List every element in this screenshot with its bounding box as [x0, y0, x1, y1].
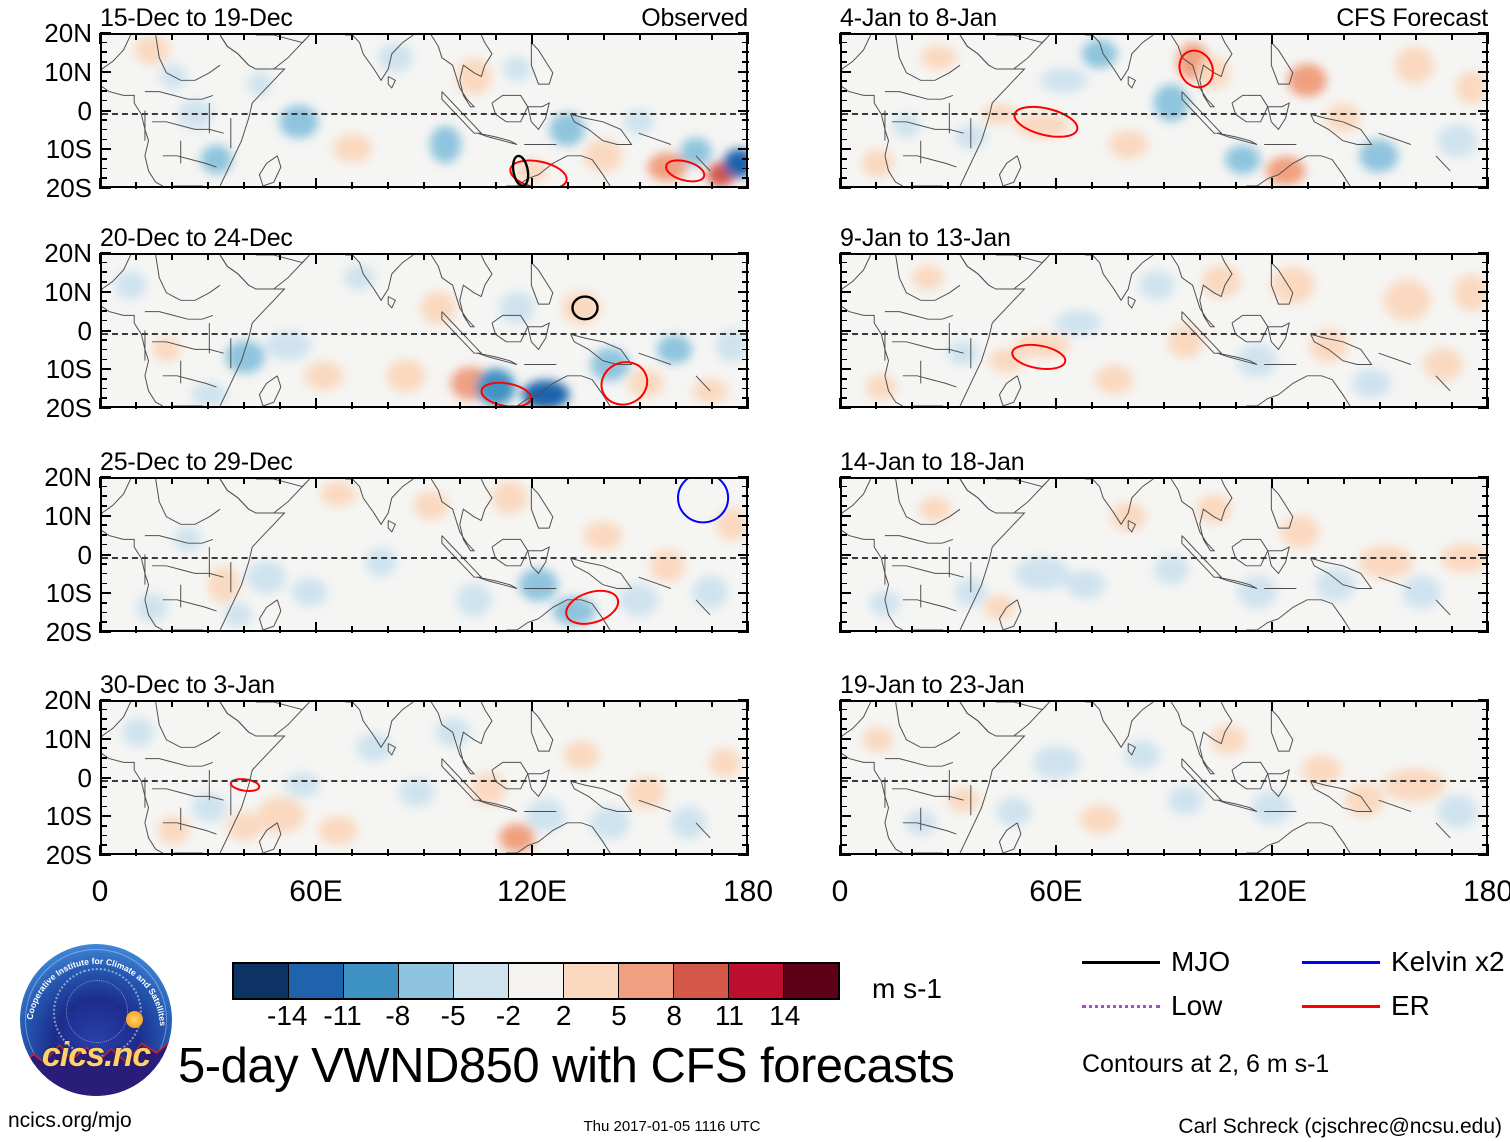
- y-tick: [840, 709, 847, 711]
- y-tick: [1478, 291, 1489, 293]
- y-axis-label: 20S: [46, 842, 92, 868]
- x-tick: [1091, 33, 1093, 40]
- x-tick: [1127, 849, 1129, 856]
- y-axis-labels: 20N10N010S20S: [12, 253, 92, 408]
- y-tick: [1478, 368, 1489, 370]
- x-tick: [207, 626, 209, 633]
- colorbar-swatch: [234, 964, 289, 998]
- colorbar-swatch: [289, 964, 344, 998]
- x-tick: [1415, 182, 1417, 189]
- x-tick: [1451, 253, 1453, 260]
- y-tick: [840, 747, 847, 749]
- colorbar-tick: -8: [385, 1002, 410, 1030]
- y-tick: [840, 524, 847, 526]
- x-tick: [459, 33, 461, 40]
- y-tick: [840, 476, 851, 478]
- y-tick: [742, 300, 749, 302]
- y-tick: [100, 271, 107, 273]
- x-tick: [495, 849, 497, 856]
- x-tick: [1163, 182, 1165, 189]
- y-tick: [840, 148, 851, 150]
- x-tick: [171, 182, 173, 189]
- y-tick: [100, 563, 107, 565]
- y-tick: [840, 796, 847, 798]
- colorbar-swatch: [619, 964, 674, 998]
- y-tick: [1482, 718, 1489, 720]
- x-tick: [1271, 622, 1273, 633]
- map-panel-fcs-3: 14-Jan to 18-Jan: [840, 477, 1488, 632]
- y-tick: [1482, 825, 1489, 827]
- colorbar-tick: -14: [267, 1002, 307, 1030]
- y-tick: [840, 281, 847, 283]
- x-tick: [387, 700, 389, 707]
- x-tick: [1379, 253, 1381, 260]
- y-tick: [840, 407, 851, 409]
- y-tick: [738, 187, 749, 189]
- x-tick: [135, 849, 137, 856]
- x-tick: [1019, 700, 1021, 707]
- y-tick: [840, 51, 847, 53]
- map-panel-grid: 15-Dec to 19-DecObserved20N10N010S20S4-J…: [0, 0, 1510, 930]
- x-tick: [1307, 700, 1309, 707]
- x-axis-label: 180: [1463, 877, 1510, 907]
- colorbar-tick: -5: [441, 1002, 466, 1030]
- y-tick: [840, 90, 847, 92]
- y-tick: [100, 592, 111, 594]
- y-tick: [742, 718, 749, 720]
- x-tick: [567, 253, 569, 260]
- y-tick: [1478, 554, 1489, 556]
- x-tick: [1199, 182, 1201, 189]
- y-tick: [1482, 534, 1489, 536]
- y-tick: [100, 330, 111, 332]
- x-tick: [875, 700, 877, 707]
- x-tick: [1415, 626, 1417, 633]
- equator-line: [102, 333, 746, 335]
- y-tick: [742, 177, 749, 179]
- x-tick: [983, 253, 985, 260]
- x-tick: [315, 33, 317, 44]
- site-url[interactable]: ncics.org/mjo: [8, 1110, 132, 1131]
- x-tick: [1379, 849, 1381, 856]
- y-tick: [1482, 119, 1489, 121]
- x-tick: [1091, 402, 1093, 409]
- map-plot-area: [840, 477, 1488, 632]
- y-tick: [100, 42, 107, 44]
- x-tick: [495, 33, 497, 40]
- x-tick: [1343, 33, 1345, 40]
- y-tick: [1482, 271, 1489, 273]
- y-tick: [100, 602, 107, 604]
- colorbar-tick: 11: [715, 1002, 744, 1030]
- y-tick: [742, 767, 749, 769]
- y-tick: [1482, 844, 1489, 846]
- y-tick: [1482, 359, 1489, 361]
- y-tick: [100, 148, 111, 150]
- coastlines: [842, 702, 1450, 853]
- y-tick: [100, 757, 107, 759]
- x-tick: [1091, 477, 1093, 484]
- x-tick: [423, 33, 425, 40]
- y-axis-labels: 20N10N010S20S: [12, 33, 92, 188]
- y-tick: [840, 786, 847, 788]
- x-tick: [911, 626, 913, 633]
- x-tick: [207, 849, 209, 856]
- y-tick: [742, 139, 749, 141]
- x-tick: [675, 182, 677, 189]
- x-tick: [531, 622, 533, 633]
- wave-legend: MJOKelvin x2LowER: [1082, 948, 1502, 1028]
- equator-line: [842, 333, 1486, 335]
- x-tick: [351, 700, 353, 707]
- x-tick: [459, 402, 461, 409]
- x-tick: [1055, 622, 1057, 633]
- y-tick: [100, 825, 107, 827]
- y-tick: [840, 368, 851, 370]
- y-tick: [1482, 310, 1489, 312]
- panel-title: 20-Dec to 24-Dec: [100, 226, 293, 251]
- y-tick: [840, 515, 851, 517]
- y-axis-label: 20N: [44, 464, 92, 490]
- y-tick: [742, 786, 749, 788]
- x-tick: [983, 700, 985, 707]
- cics-nc-logo: Cooperative Institute for Climate and Sa…: [20, 944, 172, 1096]
- y-tick: [100, 631, 111, 633]
- legend-label: Kelvin x2: [1391, 948, 1505, 976]
- x-tick: [1271, 33, 1273, 44]
- x-tick: [1055, 398, 1057, 409]
- y-tick: [100, 583, 107, 585]
- x-tick: [207, 477, 209, 484]
- x-tick: [531, 398, 533, 409]
- map-plot-area: [100, 33, 748, 188]
- y-tick: [840, 815, 851, 817]
- x-tick: [1199, 402, 1201, 409]
- y-tick: [100, 718, 107, 720]
- y-tick: [738, 71, 749, 73]
- y-tick: [1482, 177, 1489, 179]
- y-tick: [100, 129, 107, 131]
- y-tick: [1478, 476, 1489, 478]
- x-tick: [459, 253, 461, 260]
- x-tick: [603, 626, 605, 633]
- panel-column-header: CFS Forecast: [1336, 6, 1488, 31]
- x-tick: [243, 402, 245, 409]
- x-tick: [1019, 402, 1021, 409]
- panel-title: 4-Jan to 8-Jan: [840, 6, 997, 31]
- x-tick: [315, 622, 317, 633]
- y-axis-label: 0: [78, 318, 92, 344]
- y-tick: [742, 397, 749, 399]
- x-tick: [875, 402, 877, 409]
- y-tick: [742, 534, 749, 536]
- map-panel-obs-2: 20-Dec to 24-Dec: [100, 253, 748, 408]
- y-tick: [840, 71, 851, 73]
- y-tick: [100, 854, 111, 856]
- equator-line: [842, 780, 1486, 782]
- x-tick: [351, 253, 353, 260]
- x-tick: [875, 626, 877, 633]
- x-tick: [171, 253, 173, 260]
- x-tick: [423, 700, 425, 707]
- x-tick: [675, 402, 677, 409]
- colorbar-tick: 5: [611, 1002, 627, 1030]
- y-tick: [100, 709, 107, 711]
- y-tick: [742, 728, 749, 730]
- x-tick: [639, 700, 641, 707]
- y-tick: [100, 806, 107, 808]
- x-tick: [243, 700, 245, 707]
- x-tick: [639, 253, 641, 260]
- x-tick: [1019, 253, 1021, 260]
- x-tick: [315, 178, 317, 189]
- x-tick: [1343, 402, 1345, 409]
- x-tick: [243, 849, 245, 856]
- x-tick: [135, 477, 137, 484]
- y-tick: [1478, 592, 1489, 594]
- y-axis-label: 10S: [46, 580, 92, 606]
- x-tick: [711, 700, 713, 707]
- x-tick: [207, 700, 209, 707]
- y-axis-label: 20S: [46, 619, 92, 645]
- x-tick: [1379, 182, 1381, 189]
- x-tick: [1235, 700, 1237, 707]
- x-tick: [207, 182, 209, 189]
- x-tick: [983, 182, 985, 189]
- x-tick: [675, 477, 677, 484]
- x-tick: [1091, 626, 1093, 633]
- y-tick: [1478, 252, 1489, 254]
- y-tick: [100, 310, 107, 312]
- y-tick: [1478, 699, 1489, 701]
- x-tick: [279, 477, 281, 484]
- y-tick: [738, 252, 749, 254]
- x-axis-label: 0: [832, 877, 849, 907]
- y-tick: [1482, 388, 1489, 390]
- y-tick: [100, 90, 107, 92]
- y-tick: [1482, 767, 1489, 769]
- x-tick: [875, 33, 877, 40]
- y-tick: [738, 699, 749, 701]
- y-axis-label: 20S: [46, 175, 92, 201]
- y-axis-label: 20N: [44, 240, 92, 266]
- x-tick: [1163, 849, 1165, 856]
- x-tick: [315, 845, 317, 856]
- x-tick: [567, 849, 569, 856]
- map-panel-obs-4: 30-Dec to 3-Jan: [100, 700, 748, 855]
- y-tick: [840, 621, 847, 623]
- y-tick: [742, 563, 749, 565]
- x-tick: [875, 477, 877, 484]
- x-tick: [1451, 700, 1453, 707]
- y-tick: [1482, 505, 1489, 507]
- x-tick: [603, 33, 605, 40]
- x-tick: [983, 849, 985, 856]
- x-tick: [423, 626, 425, 633]
- y-tick: [742, 757, 749, 759]
- y-tick: [100, 388, 107, 390]
- y-tick: [742, 158, 749, 160]
- panel-title: 25-Dec to 29-Dec: [100, 450, 293, 475]
- y-tick: [1482, 806, 1489, 808]
- y-tick: [1482, 563, 1489, 565]
- x-tick: [911, 849, 913, 856]
- y-tick: [100, 80, 107, 82]
- y-tick: [1482, 495, 1489, 497]
- y-tick: [100, 786, 107, 788]
- x-tick: [711, 402, 713, 409]
- y-tick: [840, 728, 847, 730]
- legend-item-mjo: MJO: [1082, 948, 1230, 976]
- y-tick: [1482, 747, 1489, 749]
- x-tick: [603, 477, 605, 484]
- legend-item-kelvin-x2: Kelvin x2: [1302, 948, 1505, 976]
- y-tick: [840, 187, 851, 189]
- x-tick: [495, 626, 497, 633]
- y-tick: [840, 583, 847, 585]
- y-tick: [100, 320, 107, 322]
- x-tick: [983, 33, 985, 40]
- y-tick: [742, 359, 749, 361]
- y-tick: [742, 612, 749, 614]
- map-panel-obs-1: 15-Dec to 19-DecObserved: [100, 33, 748, 188]
- x-tick: [675, 33, 677, 40]
- x-tick: [639, 33, 641, 40]
- y-tick: [738, 476, 749, 478]
- x-tick: [1091, 700, 1093, 707]
- y-tick: [100, 187, 111, 189]
- y-tick: [1482, 90, 1489, 92]
- x-tick: [279, 253, 281, 260]
- x-tick: [1343, 626, 1345, 633]
- x-tick: [279, 182, 281, 189]
- x-tick: [1343, 700, 1345, 707]
- x-tick: [675, 626, 677, 633]
- x-tick: [243, 182, 245, 189]
- y-tick: [742, 51, 749, 53]
- y-tick: [738, 631, 749, 633]
- y-tick: [742, 349, 749, 351]
- y-axis-label: 10N: [44, 279, 92, 305]
- x-axis-label: 120E: [1237, 877, 1307, 907]
- x-tick: [1307, 477, 1309, 484]
- y-tick: [100, 612, 107, 614]
- x-tick: [711, 182, 713, 189]
- equator-line: [102, 113, 746, 115]
- x-tick: [1055, 253, 1057, 264]
- y-tick: [100, 835, 107, 837]
- colorbar-tick: 8: [666, 1002, 682, 1030]
- x-tick: [711, 253, 713, 260]
- x-axis-label: 120E: [497, 877, 567, 907]
- panel-title: 19-Jan to 23-Jan: [840, 673, 1024, 698]
- x-tick: [1379, 402, 1381, 409]
- y-tick: [840, 806, 847, 808]
- y-tick: [1478, 187, 1489, 189]
- x-tick: [1343, 182, 1345, 189]
- map-panel-fcs-2: 9-Jan to 13-Jan: [840, 253, 1488, 408]
- x-tick: [495, 477, 497, 484]
- map-plot-area: [840, 33, 1488, 188]
- y-tick: [1478, 32, 1489, 34]
- x-tick: [279, 626, 281, 633]
- x-tick: [1415, 33, 1417, 40]
- x-tick: [243, 477, 245, 484]
- x-tick: [1379, 477, 1381, 484]
- y-tick: [100, 378, 107, 380]
- colorbar-tick: -11: [323, 1002, 361, 1030]
- x-tick: [1307, 33, 1309, 40]
- x-tick: [639, 182, 641, 189]
- y-tick: [742, 709, 749, 711]
- x-tick: [947, 700, 949, 707]
- legend-label: Low: [1171, 992, 1222, 1020]
- x-tick: [135, 700, 137, 707]
- equator-line: [842, 557, 1486, 559]
- x-tick: [171, 33, 173, 40]
- y-tick: [100, 168, 107, 170]
- x-tick: [1199, 33, 1201, 40]
- y-tick: [840, 32, 851, 34]
- y-tick: [840, 310, 847, 312]
- y-tick: [840, 129, 847, 131]
- y-axis-label: 0: [78, 542, 92, 568]
- x-tick: [1307, 849, 1309, 856]
- x-tick: [911, 402, 913, 409]
- x-tick: [459, 182, 461, 189]
- x-tick: [983, 626, 985, 633]
- y-tick: [1482, 786, 1489, 788]
- y-tick: [742, 602, 749, 604]
- y-tick: [1482, 612, 1489, 614]
- x-tick: [875, 182, 877, 189]
- y-tick: [738, 32, 749, 34]
- x-tick: [947, 849, 949, 856]
- colorbar-unit-label: m s-1: [872, 975, 942, 1003]
- x-tick: [639, 626, 641, 633]
- y-tick: [1482, 728, 1489, 730]
- y-tick: [742, 310, 749, 312]
- y-tick: [1482, 544, 1489, 546]
- y-tick: [100, 486, 107, 488]
- x-tick: [1307, 253, 1309, 260]
- x-tick: [1199, 477, 1201, 484]
- y-tick: [742, 796, 749, 798]
- x-tick: [603, 402, 605, 409]
- y-tick: [100, 349, 107, 351]
- x-tick: [531, 253, 533, 264]
- x-tick: [911, 253, 913, 260]
- x-tick: [1271, 477, 1273, 488]
- x-tick: [911, 33, 913, 40]
- y-tick: [840, 397, 847, 399]
- x-tick: [495, 182, 497, 189]
- y-tick: [100, 407, 111, 409]
- y-tick: [1482, 61, 1489, 63]
- x-tick: [531, 477, 533, 488]
- equator-line: [102, 557, 746, 559]
- y-tick: [100, 71, 111, 73]
- y-tick: [100, 339, 107, 341]
- y-tick: [1482, 621, 1489, 623]
- panel-title: 30-Dec to 3-Jan: [100, 673, 275, 698]
- legend-line-swatch: [1302, 1005, 1380, 1008]
- x-tick: [495, 253, 497, 260]
- y-tick: [1482, 80, 1489, 82]
- x-tick: [947, 182, 949, 189]
- x-tick: [315, 700, 317, 711]
- y-tick: [100, 359, 107, 361]
